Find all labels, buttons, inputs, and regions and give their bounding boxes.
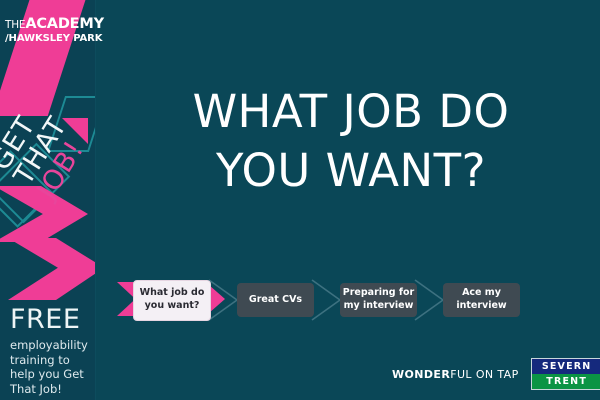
chevron-right-icon-3 xyxy=(413,278,447,322)
pink-chevron-lower xyxy=(8,238,96,300)
step-item-3[interactable]: Preparing for my interview xyxy=(340,272,417,328)
page-title: WHAT JOB DO YOU WANT? xyxy=(110,82,592,201)
sponsor-footer: WONDERFUL ON TAP SEVERN TRENT xyxy=(392,358,600,390)
step-item-4[interactable]: Ace my interview xyxy=(443,272,520,328)
step-item-2[interactable]: Great CVs xyxy=(237,272,314,328)
severn-trent-logo-top: SEVERN xyxy=(532,359,600,374)
step-item-1[interactable]: What job do you want? xyxy=(133,272,211,328)
severn-trent-logo-severn: SEVERN xyxy=(542,361,592,372)
slide-canvas: GET THAT JOB! FREE employability trainin… xyxy=(0,0,600,400)
free-offer-block: FREE employability training to help you … xyxy=(10,306,96,397)
sponsor-tagline: WONDERFUL ON TAP xyxy=(392,368,519,381)
chevron-right-icon-1 xyxy=(207,278,241,322)
progress-step-bar: What job do you want? Great CVs Preparin… xyxy=(133,272,520,328)
free-description: employability training to help you Get T… xyxy=(10,338,96,397)
step-label-2[interactable]: Great CVs xyxy=(237,283,314,317)
left-decorative-panel: GET THAT JOB! FREE employability trainin… xyxy=(0,0,96,400)
severn-trent-logo: SEVERN TRENT xyxy=(531,358,600,390)
academy-logo-the: THE xyxy=(5,19,25,31)
step-label-1[interactable]: What job do you want? xyxy=(133,280,211,321)
headline-line-1: WHAT JOB DO xyxy=(193,85,510,138)
panel-divider xyxy=(95,0,96,400)
severn-trent-logo-trent: TRENT xyxy=(546,376,587,387)
academy-logo-primary: THEACADEMY xyxy=(5,16,95,32)
academy-logo-sub: /HAWKSLEY PARK xyxy=(5,33,95,44)
severn-trent-logo-bottom: TRENT xyxy=(532,374,600,389)
chevron-right-icon-2 xyxy=(310,278,344,322)
sponsor-tagline-bold: WONDER xyxy=(392,368,450,381)
step-label-4[interactable]: Ace my interview xyxy=(443,283,520,317)
step-label-3[interactable]: Preparing for my interview xyxy=(340,283,417,317)
sponsor-tagline-rest: FUL ON TAP xyxy=(450,368,518,381)
academy-logo-academy: ACADEMY xyxy=(25,16,104,32)
academy-logo: THEACADEMY /HAWKSLEY PARK xyxy=(5,16,95,44)
free-heading: FREE xyxy=(10,306,96,333)
headline-line-2: YOU WANT? xyxy=(110,141,592,200)
